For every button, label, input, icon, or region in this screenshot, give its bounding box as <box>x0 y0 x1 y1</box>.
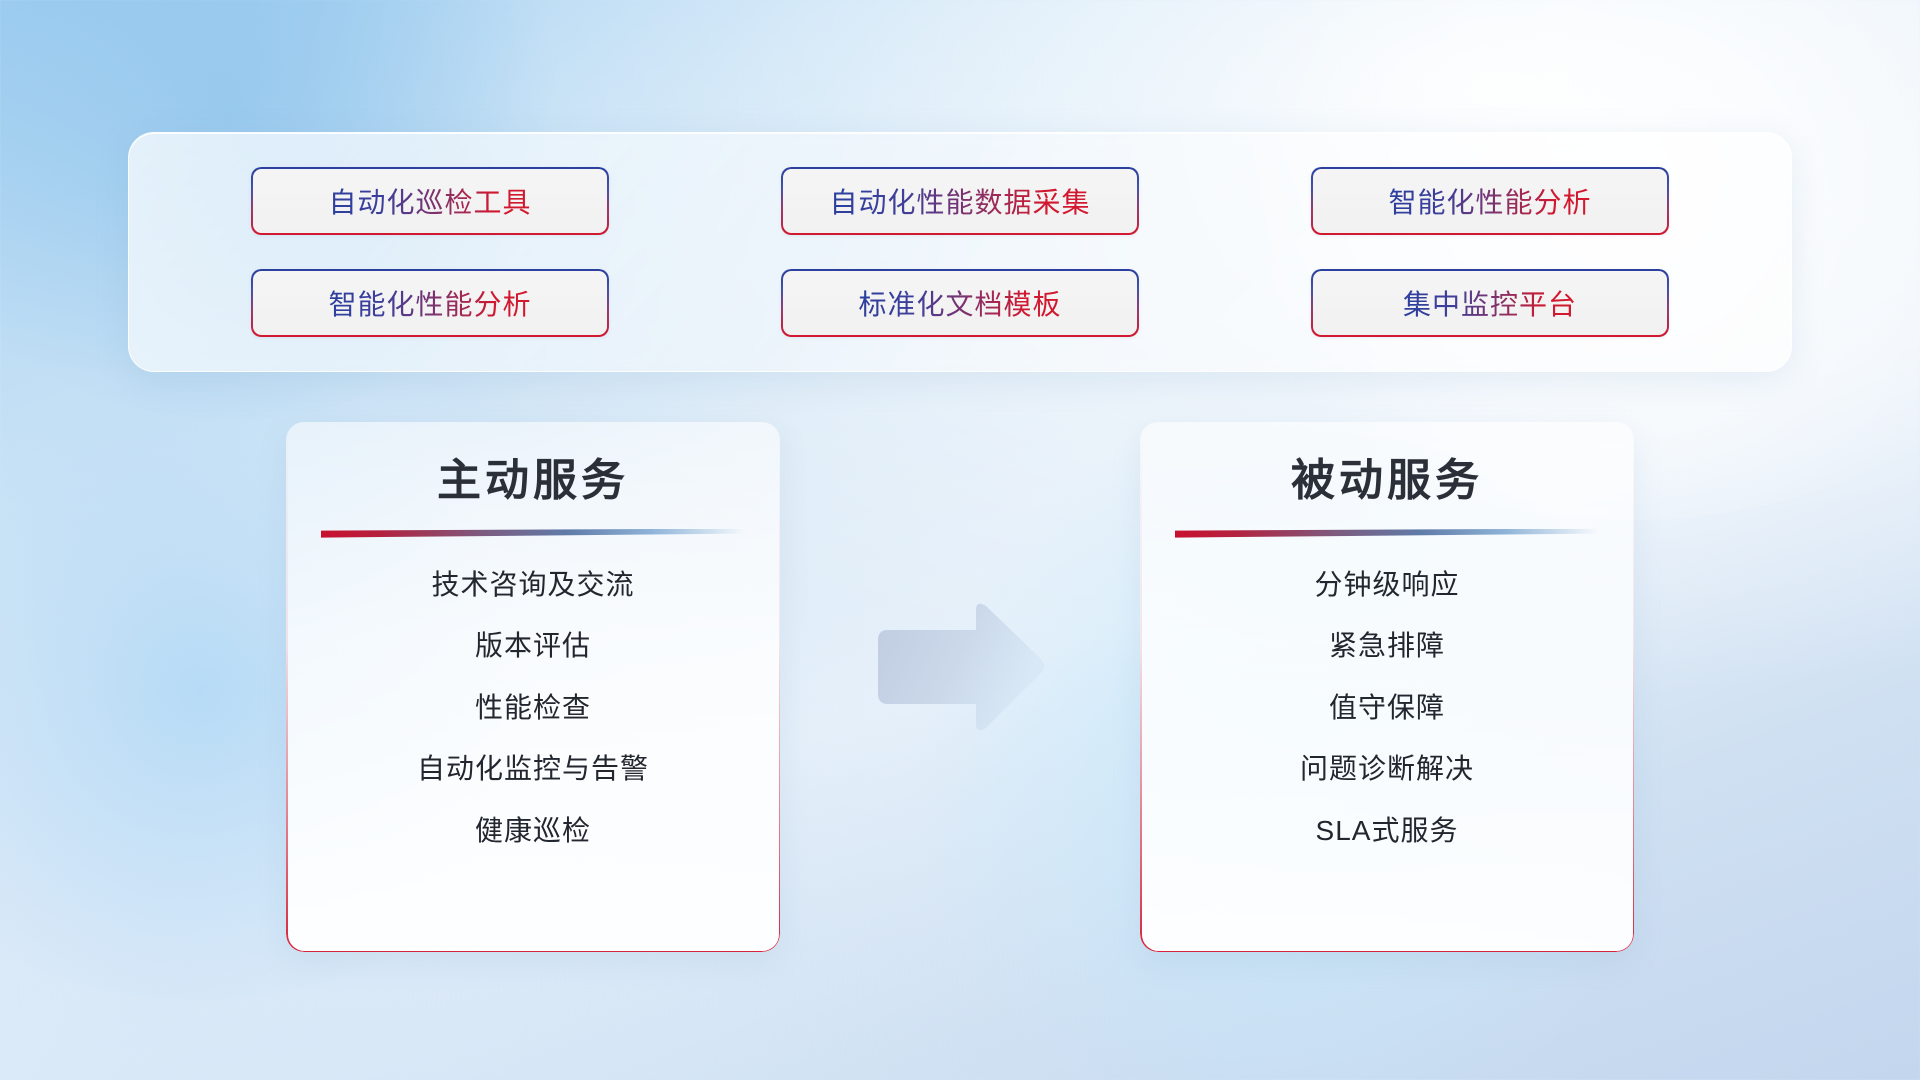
arrow-right-icon <box>868 600 1048 734</box>
service-card-title: 被动服务 <box>1291 456 1483 507</box>
service-card-body: 被动服务 分钟级响应 紧急排障 值守保障 问题诊断解决 SLA式服务 <box>1140 422 1634 952</box>
service-item: 版本评估 <box>475 629 591 663</box>
capability-pill[interactable]: 标准化文档模板 <box>781 269 1139 337</box>
capability-pill-label: 自动化性能数据采集 <box>829 181 1090 221</box>
service-card-proactive: 主动服务 技术咨询及交流 版本评估 性能检查 自动化监控与告警 健康巡检 <box>286 422 780 952</box>
service-item: SLA式服务 <box>1316 814 1459 848</box>
title-divider-bar <box>1175 529 1599 538</box>
slide-canvas: 自动化巡检工具 自动化性能数据采集 智能化性能分析 智能化性能分析 标准化文档模… <box>0 0 1920 1080</box>
capability-pill-label: 集中监控平台 <box>1403 283 1577 323</box>
service-card-body: 主动服务 技术咨询及交流 版本评估 性能检查 自动化监控与告警 健康巡检 <box>286 422 780 952</box>
service-card-title: 主动服务 <box>437 456 629 507</box>
capability-pill[interactable]: 自动化巡检工具 <box>251 167 609 235</box>
service-item: 技术咨询及交流 <box>431 568 634 602</box>
capability-pill-label: 自动化巡检工具 <box>328 181 531 221</box>
service-item-list: 分钟级响应 紧急排障 值守保障 问题诊断解决 SLA式服务 <box>1170 568 1604 848</box>
service-item: 问题诊断解决 <box>1300 752 1474 786</box>
title-divider-bar <box>321 529 745 538</box>
service-item: 性能检查 <box>475 691 591 725</box>
service-item: 健康巡检 <box>475 814 591 848</box>
service-item: 值守保障 <box>1329 691 1445 725</box>
service-item-list: 技术咨询及交流 版本评估 性能检查 自动化监控与告警 健康巡检 <box>316 568 750 848</box>
title-divider <box>1175 529 1599 538</box>
title-divider <box>321 529 745 538</box>
service-item: 紧急排障 <box>1329 629 1445 663</box>
flow-direction <box>868 600 1048 734</box>
capability-pill-label: 智能化性能分析 <box>328 283 531 323</box>
service-card-reactive: 被动服务 分钟级响应 紧急排障 值守保障 问题诊断解决 SLA式服务 <box>1140 422 1634 952</box>
capability-pill[interactable]: 集中监控平台 <box>1311 269 1669 337</box>
service-item: 自动化监控与告警 <box>417 752 649 786</box>
capability-pill-label: 标准化文档模板 <box>858 283 1061 323</box>
capability-pill[interactable]: 智能化性能分析 <box>1311 167 1669 235</box>
capability-pill[interactable]: 自动化性能数据采集 <box>781 167 1139 235</box>
capability-pill-label: 智能化性能分析 <box>1388 181 1591 221</box>
capability-pill[interactable]: 智能化性能分析 <box>251 269 609 337</box>
service-item: 分钟级响应 <box>1314 568 1459 602</box>
capability-panel: 自动化巡检工具 自动化性能数据采集 智能化性能分析 智能化性能分析 标准化文档模… <box>128 132 1792 372</box>
